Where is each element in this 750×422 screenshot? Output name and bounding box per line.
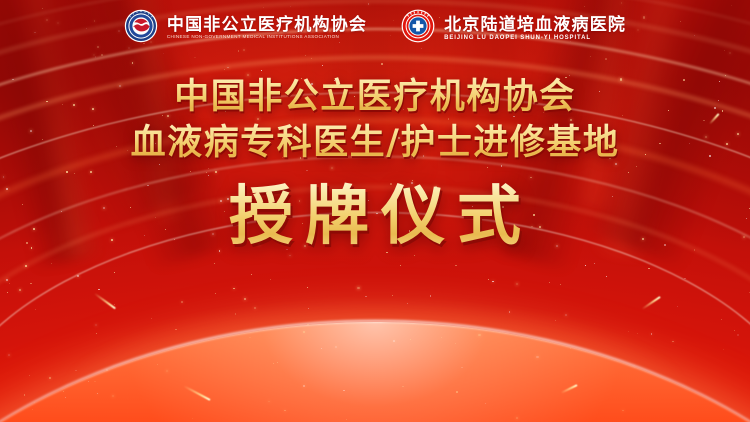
hospital-name-en: BEIJING LU DAOPEI SHUN-YI HOSPITAL: [444, 34, 626, 40]
header-logo-bar: 中国非公立医疗机构协会 CHINESE NON-GOVERNMENT MEDIC…: [0, 0, 750, 56]
ceremony-block: 授牌仪式: [0, 178, 750, 256]
organization-cnmia: 中国非公立医疗机构协会 CHINESE NON-GOVERNMENT MEDIC…: [124, 9, 367, 48]
cnmia-name-block: 中国非公立医疗机构协会 CHINESE NON-GOVERNMENT MEDIC…: [167, 16, 367, 40]
poster-canvas: 中国非公立医疗机构协会 CHINESE NON-GOVERNMENT MEDIC…: [0, 0, 750, 422]
title-line-2: 血液病专科医生/护士进修基地: [0, 120, 750, 166]
hospital-cross-badge-icon: [401, 9, 435, 48]
hospital-name-cn: 北京陆道培血液病医院: [444, 16, 626, 33]
title-line-1: 中国非公立医疗机构协会: [0, 74, 750, 120]
cnmia-seal-icon: [124, 9, 158, 48]
cnmia-name-en: CHINESE NON-GOVERNMENT MEDICAL INSTITUTI…: [167, 35, 367, 40]
ceremony-headline: 授牌仪式: [0, 178, 750, 256]
organization-hospital: 北京陆道培血液病医院 BEIJING LU DAOPEI SHUN-YI HOS…: [401, 9, 626, 48]
cnmia-name-cn: 中国非公立医疗机构协会: [167, 16, 367, 33]
title-block: 中国非公立医疗机构协会 血液病专科医生/护士进修基地: [0, 74, 750, 166]
hospital-name-block: 北京陆道培血液病医院 BEIJING LU DAOPEI SHUN-YI HOS…: [444, 16, 626, 41]
